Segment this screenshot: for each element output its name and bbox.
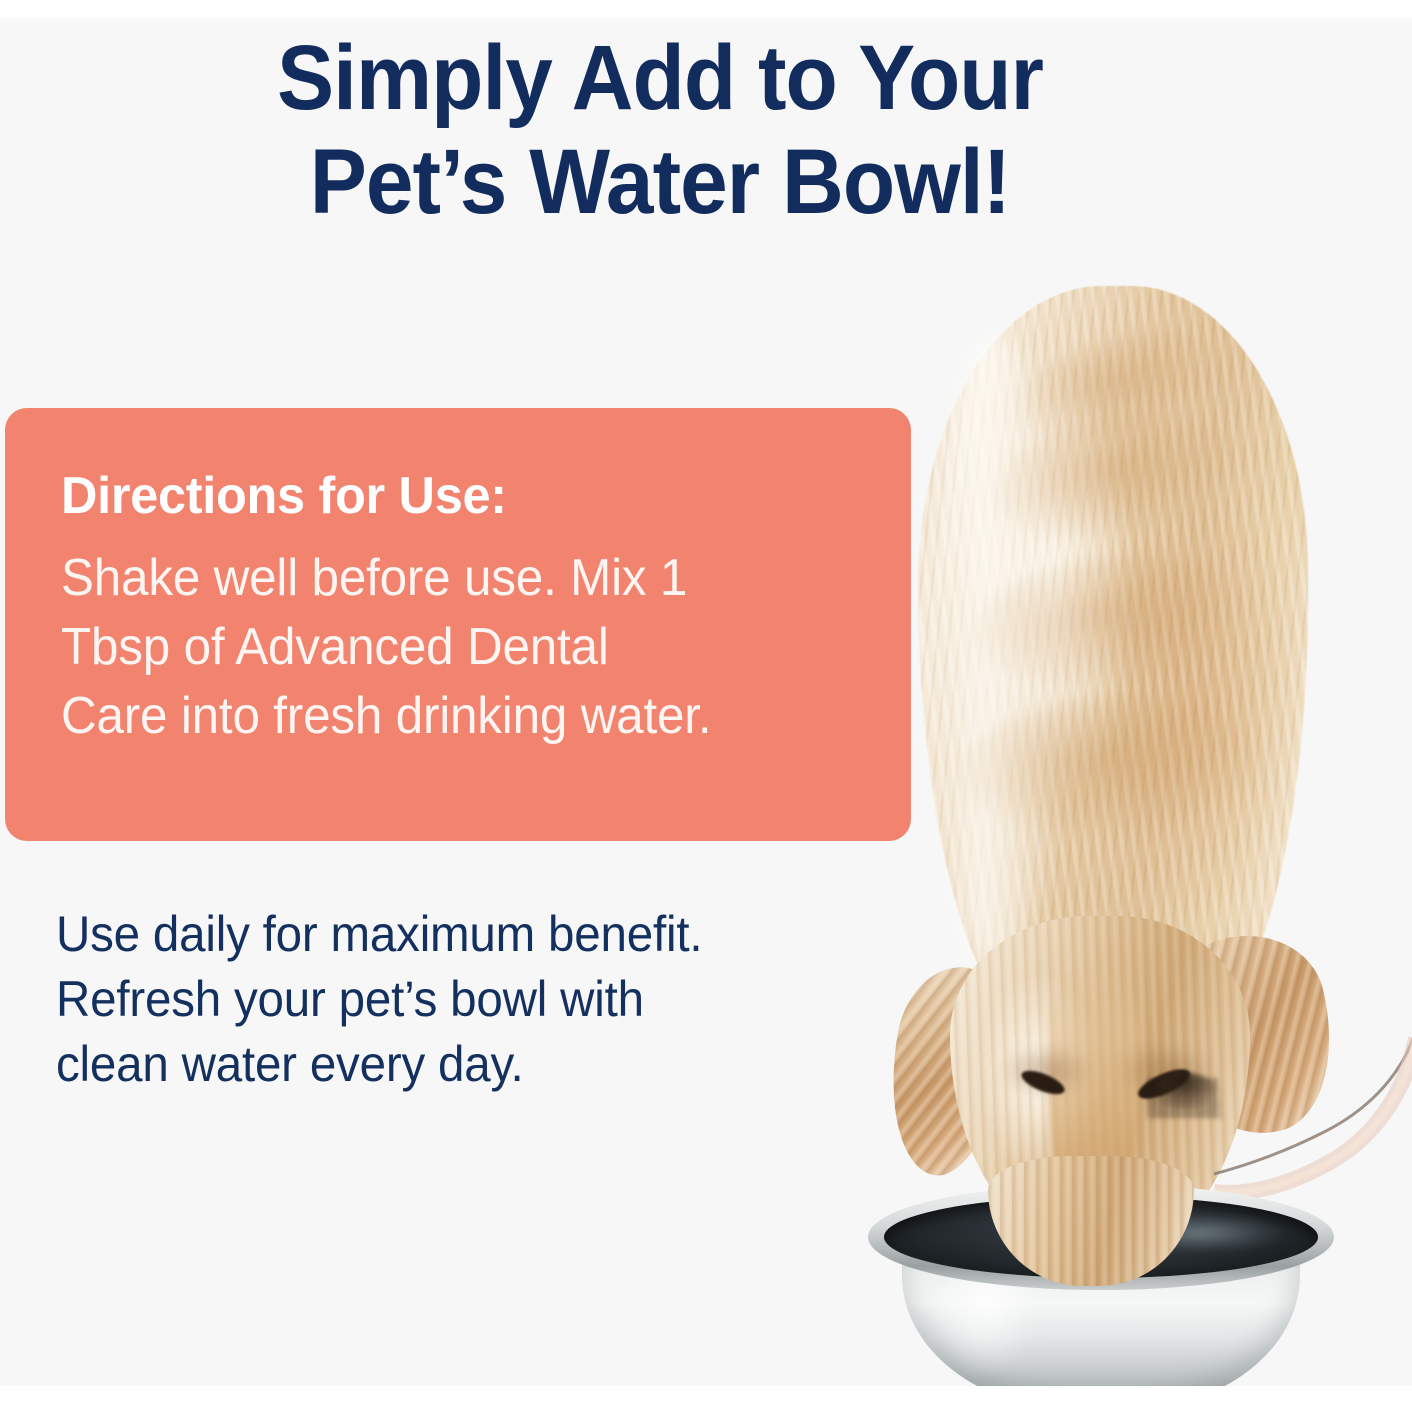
usage-note-line-1: Use daily for maximum benefit. — [56, 902, 778, 967]
content-canvas: Simply Add to Your Pet’s Water Bowl! — [0, 18, 1412, 1386]
usage-note-line-2: Refresh your pet’s bowl with — [56, 967, 778, 1032]
promo-panel: Simply Add to Your Pet’s Water Bowl! — [0, 0, 1412, 1412]
usage-note-line-3: clean water every day. — [56, 1032, 778, 1097]
directions-card: Directions for Use: Shake well before us… — [5, 408, 911, 841]
directions-body-line-2: Tbsp of Advanced Dental — [61, 613, 850, 682]
directions-body: Shake well before use. Mix 1 Tbsp of Adv… — [61, 544, 850, 751]
dog-drinking-photo — [840, 36, 1412, 1386]
directions-title: Directions for Use: — [61, 468, 507, 524]
usage-note: Use daily for maximum benefit. Refresh y… — [56, 902, 778, 1097]
directions-body-line-3: Care into fresh drinking water. — [61, 682, 850, 751]
directions-body-line-1: Shake well before use. Mix 1 — [61, 544, 850, 613]
